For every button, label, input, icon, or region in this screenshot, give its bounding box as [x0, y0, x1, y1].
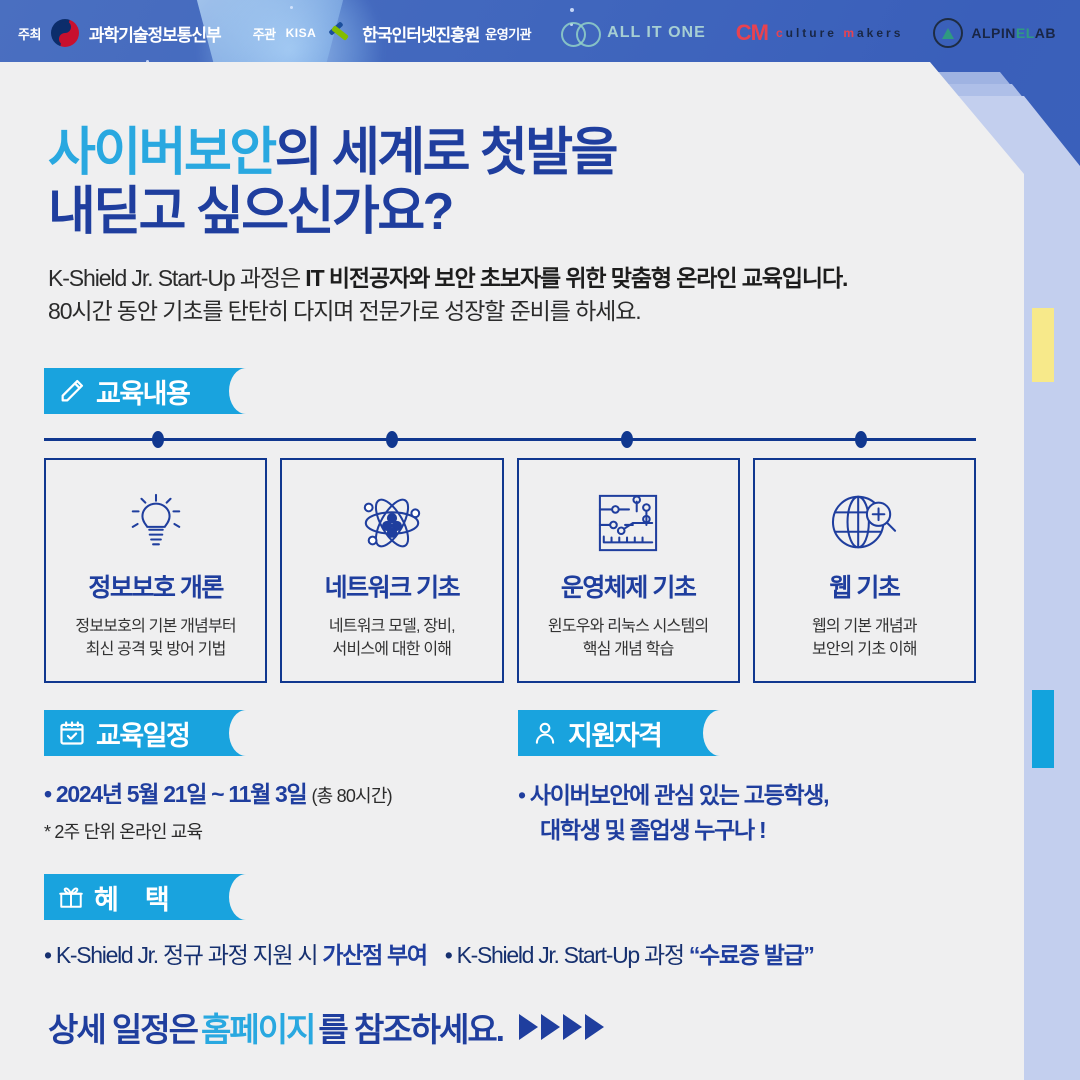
title-accent-text: 사이버보안: [48, 124, 275, 182]
curriculum-card-web: 웹 기초 웹의 기본 개념과 보안의 기초 이해: [753, 458, 976, 683]
person-icon: [532, 719, 558, 747]
cyan-accent-block: [1032, 690, 1054, 768]
curriculum-card-title: 웹 기초: [829, 568, 899, 604]
schedule-content: • 2024년 5월 21일 ~ 11월 3일 (총 80시간) * 2주 단위…: [44, 778, 514, 844]
cta-pre-text: 상세 일정은: [48, 1003, 197, 1051]
eligibility-line-1: • 사이버보안에 관심 있는 고등학생,: [518, 778, 988, 813]
eligibility-strong-1: 사이버보안에 관심 있는: [530, 782, 739, 808]
host-organization-name: 과학기술정보통신부: [89, 21, 221, 46]
timeline-dot: [621, 431, 633, 448]
section-label-benefits: 혜택: [94, 878, 196, 917]
curriculum-card-title: 네트워크 기초: [325, 568, 459, 604]
cta-post-text: 를 참조하세요.: [318, 1003, 503, 1051]
schedule-hours: (총 80시간): [311, 786, 391, 806]
host-logo-group: 주최 과학기술정보통신부 주관 KISA 한국인터넷진흥원: [18, 19, 479, 47]
curriculum-card-desc: 정보보호의 기본 개념부터 최신 공격 및 방어 기법: [75, 615, 235, 661]
supervisor-label: 주관: [253, 24, 276, 43]
desc-line-2: 최신 공격 및 방어 기법: [75, 638, 235, 661]
curriculum-card-title: 정보보호 개론: [88, 568, 222, 604]
desc-line-1: 윈도우와 리눅스 시스템의: [548, 615, 708, 638]
eligibility-strong-2: 누구나 !: [694, 817, 765, 843]
section-header-curriculum: 교육내용: [44, 368, 262, 414]
section-label-schedule: 교육일정: [96, 714, 189, 753]
desc-line-1: 웹의 기본 개념과: [812, 615, 917, 638]
interlocking-rings-icon: [561, 22, 599, 44]
title-line-2: 내딛고 싶으신가요?: [48, 183, 616, 242]
lede-line-1-bold: IT 비전공자와 보안 초보자를 위한 맞춤형 온라인 교육입니다.: [305, 265, 847, 291]
kisa-swoosh-icon: [326, 21, 352, 45]
eligibility-content: • 사이버보안에 관심 있는 고등학생, 대학생 및 졸업생 누구나 !: [518, 778, 988, 847]
timeline-dot: [152, 431, 164, 448]
operator-label: 운영기관: [485, 24, 531, 43]
gift-icon: [58, 883, 84, 911]
circuit-icon: [596, 486, 660, 560]
benefit-item: • K-Shield Jr. Start-Up 과정 “수료증 발급”: [445, 936, 814, 970]
desc-line-2: 서비스에 대한 이해: [329, 638, 455, 661]
benefit-bullet: •: [445, 942, 452, 968]
lede-line-2: 80시간 동안 기초를 탄탄히 다지며 전문가로 성장할 준비를 하세요.: [48, 295, 998, 328]
desc-line-1: 정보보호의 기본 개념부터: [75, 615, 235, 638]
curriculum-card-network: 네트워크 기초 네트워크 모델, 장비, 서비스에 대한 이해: [280, 458, 503, 683]
lightbulb-icon: [125, 486, 187, 560]
timeline-rail: [44, 438, 976, 441]
curriculum-card-list: 정보보호 개론 정보보호의 기본 개념부터 최신 공격 및 방어 기법 네트워크…: [44, 458, 976, 683]
title-rest-text: 의 세계로 첫발을: [275, 124, 616, 182]
benefit-strong: “수료증 발급”: [689, 942, 814, 968]
supervisor-organization-name: 한국인터넷진흥원: [362, 21, 479, 46]
curriculum-card-desc: 웹의 기본 개념과 보안의 기초 이해: [812, 615, 917, 661]
title-line-1: 사이버보안의 세계로 첫발을: [48, 124, 616, 183]
section-header-eligibility: 지원자격: [518, 710, 736, 756]
sponsor-allitone: ALL IT ONE: [561, 22, 706, 44]
benefits-list: • K-Shield Jr. 정규 과정 지원 시 가산점 부여 • K-Shi…: [44, 936, 994, 970]
desc-line-2: 핵심 개념 학습: [548, 638, 708, 661]
curriculum-card-os: 운영체제 기초 윈도우와 리눅스 시스템의 핵심 개념 학습: [517, 458, 740, 683]
page-title: 사이버보안의 세계로 첫발을 내딛고 싶으신가요?: [48, 124, 616, 243]
desc-line-1: 네트워크 모델, 장비,: [329, 615, 455, 638]
eligibility-line-2: 대학생 및 졸업생 누구나 !: [518, 813, 988, 848]
timeline-dot: [386, 431, 398, 448]
globe-search-icon: [830, 486, 898, 560]
lede-line-1-plain: K-Shield Jr. Start-Up 과정은: [48, 265, 305, 291]
schedule-main-line: • 2024년 5월 21일 ~ 11월 3일 (총 80시간): [44, 778, 514, 810]
sponsor-culturemakers-name: culture makers: [776, 26, 903, 40]
section-label-curriculum: 교육내용: [96, 372, 189, 411]
cta-accent-text: 홈페이지: [201, 1003, 314, 1051]
benefit-bullet: •: [44, 942, 51, 968]
desc-line-2: 보안의 기초 이해: [812, 638, 917, 661]
cta-line[interactable]: 상세 일정은 홈페이지를 참조하세요.: [48, 1003, 604, 1051]
sponsor-allitone-name: ALL IT ONE: [607, 24, 706, 42]
yellow-accent-block: [1032, 308, 1054, 382]
pencil-icon: [58, 377, 86, 405]
sponsor-alpinelab-name: ALPINELAB: [971, 25, 1056, 41]
operator-logo-group: 운영기관 ALL IT ONE CM culture makers ALPINE…: [485, 18, 1056, 48]
schedule-bullet: •: [44, 781, 51, 807]
atom-icon: [359, 486, 425, 560]
benefit-text: K-Shield Jr. 정규 과정 지원 시: [51, 942, 323, 968]
section-header-benefits: 혜택: [44, 874, 262, 920]
kisa-wordmark: KISA: [286, 26, 317, 40]
curriculum-card-title: 운영체제 기초: [561, 568, 695, 604]
benefit-strong: 가산점 부여: [322, 942, 426, 968]
benefit-text: K-Shield Jr. Start-Up 과정: [452, 942, 689, 968]
curriculum-card-intro: 정보보호 개론 정보보호의 기본 개념부터 최신 공격 및 방어 기법: [44, 458, 267, 683]
lede-paragraph: K-Shield Jr. Start-Up 과정은 IT 비전공자와 보안 초보…: [48, 262, 998, 329]
section-label-eligibility: 지원자격: [568, 714, 661, 753]
calendar-check-icon: [58, 719, 86, 747]
eligibility-light-1: 고등학생,: [739, 782, 829, 808]
section-header-schedule: 교육일정: [44, 710, 262, 756]
play-arrow-icon: [585, 1014, 604, 1040]
sponsor-alpinelab: ALPINELAB: [933, 18, 1056, 48]
curriculum-card-desc: 네트워크 모델, 장비, 서비스에 대한 이해: [329, 615, 455, 661]
cta-arrow-group: [519, 1014, 604, 1040]
alpine-triangle-icon: [933, 18, 963, 48]
play-arrow-icon: [563, 1014, 582, 1040]
schedule-note: * 2주 단위 온라인 교육: [44, 818, 514, 844]
schedule-date-range: 2024년 5월 21일 ~ 11월 3일: [56, 781, 307, 807]
host-label: 주최: [18, 24, 41, 43]
timeline-dot: [855, 431, 867, 448]
benefit-item: • K-Shield Jr. 정규 과정 지원 시 가산점 부여: [44, 936, 427, 970]
play-arrow-icon: [541, 1014, 560, 1040]
lede-line-1: K-Shield Jr. Start-Up 과정은 IT 비전공자와 보안 초보…: [48, 262, 998, 295]
eligibility-light-2: 대학생 및 졸업생: [540, 817, 694, 843]
play-arrow-icon: [519, 1014, 538, 1040]
sponsor-header-bar: 주최 과학기술정보통신부 주관 KISA 한국인터넷진흥원 운영기관 ALL I…: [0, 0, 1080, 66]
cm-logo-icon: CM: [736, 20, 768, 46]
sponsor-culturemakers: CM culture makers: [736, 20, 904, 46]
korea-taegeuk-icon: [51, 19, 79, 47]
poster-root: 주최 과학기술정보통신부 주관 KISA 한국인터넷진흥원 운영기관 ALL I…: [0, 0, 1080, 1080]
curriculum-card-desc: 윈도우와 리눅스 시스템의 핵심 개념 학습: [548, 615, 708, 661]
eligibility-bullet: •: [518, 782, 525, 808]
